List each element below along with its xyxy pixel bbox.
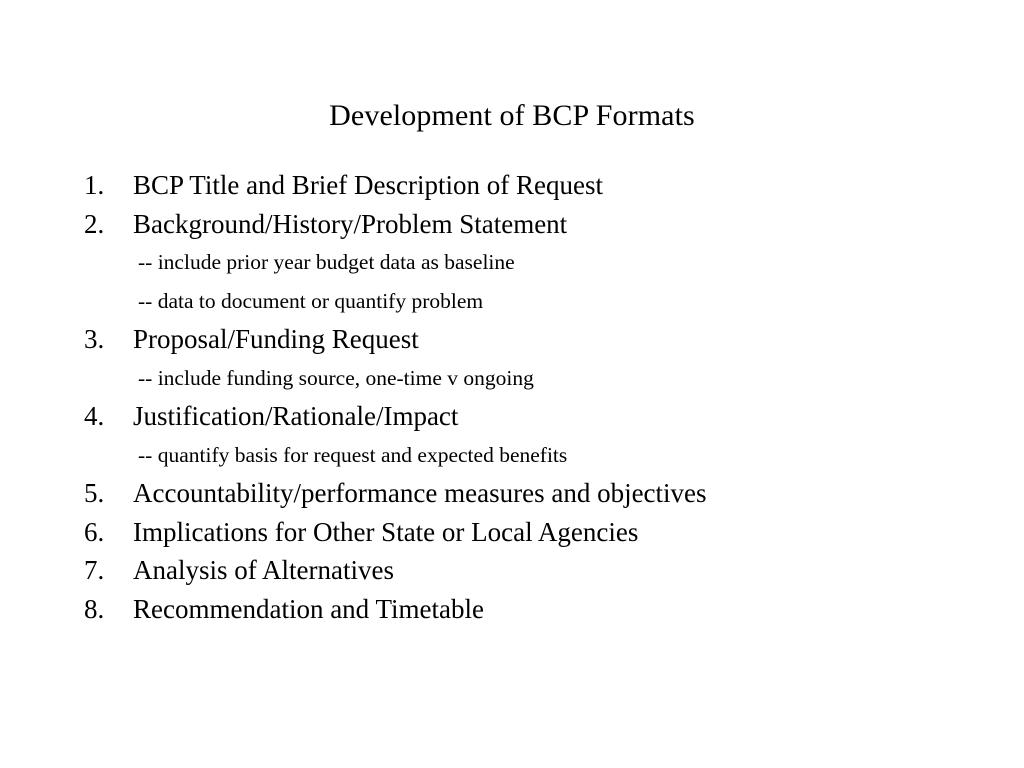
sub-bullet: -- data to document or quantify problem (84, 282, 984, 321)
sub-bullet-label: data to document or quantify problem (158, 289, 483, 313)
list-item-label: BCP Title and Brief Description of Reque… (133, 170, 603, 200)
list-item: 6.Implications for Other State or Local … (84, 513, 984, 552)
list-item-label: Proposal/Funding Request (133, 324, 419, 354)
list-item-number: 8. (84, 590, 133, 629)
list-item-label: Background/History/Problem Statement (133, 209, 567, 239)
list-item-number: 7. (84, 551, 133, 590)
list-item-number: 3. (84, 320, 133, 359)
list-item: 2.Background/History/Problem Statement (84, 205, 984, 244)
list-item-label: Accountability/performance measures and … (133, 478, 707, 508)
list-item-number: 2. (84, 205, 133, 244)
sub-bullet: -- quantify basis for request and expect… (84, 436, 984, 475)
list-item-label: Justification/Rationale/Impact (133, 401, 458, 431)
list-item: 7.Analysis of Alternatives (84, 551, 984, 590)
sub-bullet-label: quantify basis for request and expected … (158, 443, 568, 467)
slide-canvas: Development of BCP Formats 1.BCP Title a… (0, 0, 1024, 768)
list-item-label: Analysis of Alternatives (133, 555, 394, 585)
list-item: 1.BCP Title and Brief Description of Req… (84, 166, 984, 205)
dash-marker-icon: -- (138, 443, 152, 467)
sub-bullet-label: include prior year budget data as baseli… (158, 250, 515, 274)
page-title: Development of BCP Formats (0, 99, 1024, 133)
numbered-list: 1.BCP Title and Brief Description of Req… (84, 166, 984, 628)
list-item-number: 1. (84, 166, 133, 205)
sub-bullet-label: include funding source, one-time v ongoi… (158, 366, 534, 390)
sub-bullet: -- include funding source, one-time v on… (84, 359, 984, 398)
list-item-label: Recommendation and Timetable (133, 594, 484, 624)
sub-bullet: -- include prior year budget data as bas… (84, 243, 984, 282)
list-item: 5.Accountability/performance measures an… (84, 474, 984, 513)
dash-marker-icon: -- (138, 289, 152, 313)
list-item: 3.Proposal/Funding Request (84, 320, 984, 359)
list-item-number: 5. (84, 474, 133, 513)
list-item-number: 4. (84, 397, 133, 436)
list-item: 4.Justification/Rationale/Impact (84, 397, 984, 436)
list-item: 8.Recommendation and Timetable (84, 590, 984, 629)
list-item-number: 6. (84, 513, 133, 552)
list-item-label: Implications for Other State or Local Ag… (133, 517, 638, 547)
dash-marker-icon: -- (138, 250, 152, 274)
dash-marker-icon: -- (138, 366, 152, 390)
